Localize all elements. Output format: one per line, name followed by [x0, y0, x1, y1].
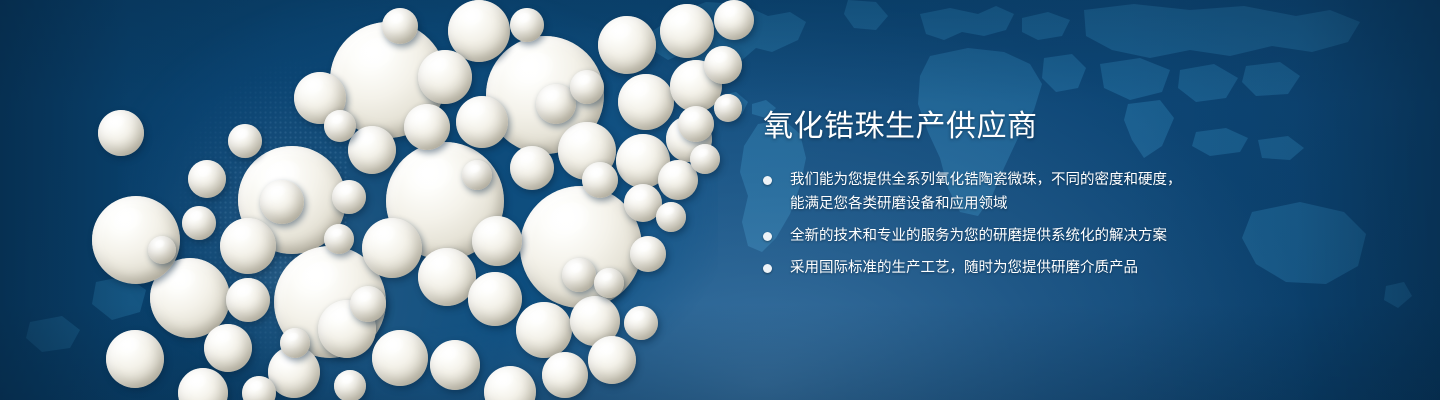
bead	[382, 8, 418, 44]
bead	[660, 4, 714, 58]
bead	[594, 268, 624, 298]
bead	[418, 50, 472, 104]
bead	[350, 286, 386, 322]
bead	[462, 160, 492, 190]
list-item: 采用国际标准的生产工艺，随时为您提供研磨介质产品	[763, 256, 1233, 280]
bead	[624, 306, 658, 340]
bead	[582, 162, 618, 198]
bead	[510, 146, 554, 190]
bead	[182, 206, 216, 240]
list-item-line: 采用国际标准的生产工艺，随时为您提供研磨介质产品	[790, 256, 1233, 280]
banner-copy: 氧化锆珠生产供应商 我们能为您提供全系列氧化锆陶瓷微珠，不同的密度和硬度， 能满…	[763, 108, 1233, 280]
bead	[562, 258, 596, 292]
bead	[598, 16, 656, 74]
bullet-dot-icon	[763, 264, 772, 273]
bead	[332, 180, 366, 214]
bead	[324, 110, 356, 142]
bead	[98, 110, 144, 156]
zirconia-beads-image	[118, 0, 718, 400]
bead	[226, 278, 270, 322]
bead	[472, 216, 522, 266]
bead	[456, 96, 508, 148]
list-item-line: 能满足您各类研磨设备和应用领域	[790, 192, 1233, 216]
bead	[656, 202, 686, 232]
list-item-line: 我们能为您提供全系列氧化锆陶瓷微珠，不同的密度和硬度，	[790, 168, 1233, 192]
bead	[430, 340, 480, 390]
bead	[516, 302, 572, 358]
bead	[228, 124, 262, 158]
bead	[260, 180, 304, 224]
list-item-line: 全新的技术和专业的服务为您的研磨提供系统化的解决方案	[790, 224, 1233, 248]
bead	[714, 0, 754, 40]
bead	[324, 224, 354, 254]
bead	[348, 126, 396, 174]
bead	[468, 272, 522, 326]
list-item: 全新的技术和专业的服务为您的研磨提供系统化的解决方案	[763, 224, 1233, 248]
bead	[362, 218, 422, 278]
bead	[106, 330, 164, 388]
bead	[704, 46, 742, 84]
bead	[404, 104, 450, 150]
bullet-dot-icon	[763, 176, 772, 185]
bead	[630, 236, 666, 272]
bead	[588, 336, 636, 384]
bead	[510, 8, 544, 42]
page-title: 氧化锆珠生产供应商	[763, 108, 1233, 146]
bead	[334, 370, 366, 400]
bead	[280, 328, 310, 358]
bead	[148, 236, 176, 264]
bead	[188, 160, 226, 198]
feature-bullet-list: 我们能为您提供全系列氧化锆陶瓷微珠，不同的密度和硬度， 能满足您各类研磨设备和应…	[763, 168, 1233, 280]
list-item: 我们能为您提供全系列氧化锆陶瓷微珠，不同的密度和硬度， 能满足您各类研磨设备和应…	[763, 168, 1233, 216]
bead	[204, 324, 252, 372]
bead	[690, 144, 720, 174]
bead	[678, 106, 714, 142]
bead	[372, 330, 428, 386]
bead	[714, 94, 742, 122]
bead	[618, 74, 674, 130]
bullet-dot-icon	[763, 232, 772, 241]
bead	[542, 352, 588, 398]
promo-banner: 氧化锆珠生产供应商 我们能为您提供全系列氧化锆陶瓷微珠，不同的密度和硬度， 能满…	[0, 0, 1440, 400]
bead	[220, 218, 276, 274]
bead	[570, 70, 604, 104]
